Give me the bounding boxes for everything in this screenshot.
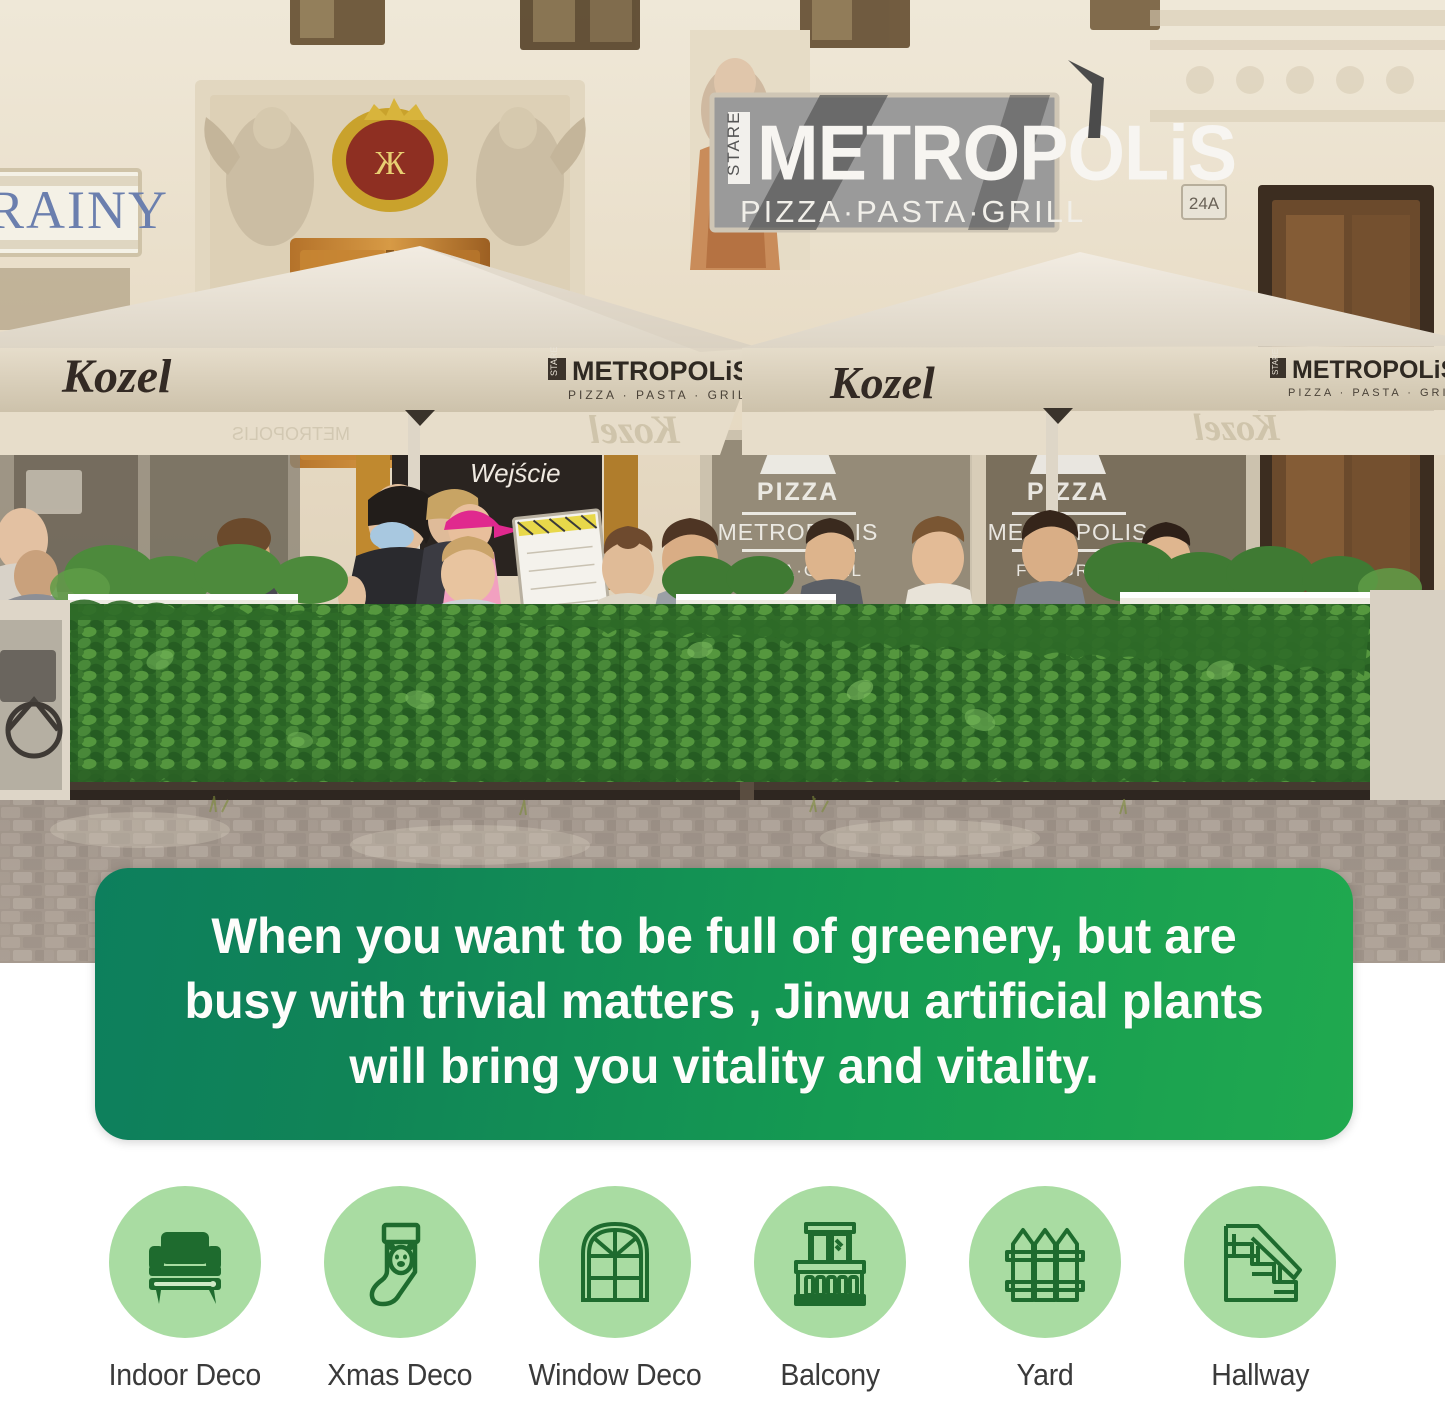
feature-item-balcony[interactable]: Balcony [723,1186,938,1393]
svg-text:METROPOLiS: METROPOLiS [572,356,751,386]
balcony-railing-icon [754,1186,906,1338]
cafe-terrace-photo: RAINY Ж [0,0,1445,963]
sofa-icon [109,1186,261,1338]
arched-window-icon [539,1186,691,1338]
christmas-stocking-icon [324,1186,476,1338]
marketing-banner: When you want to be full of greenery, bu… [95,868,1353,1140]
banner-headline: When you want to be full of greenery, bu… [153,904,1296,1099]
staircase-icon [1184,1186,1336,1338]
svg-text:METROPOLIS: METROPOLIS [718,519,879,545]
picket-fence-icon [969,1186,1121,1338]
svg-text:STARE: STARE [1271,349,1280,375]
feature-item-hallway[interactable]: Hallway [1153,1186,1368,1393]
product-marketing-page: RAINY Ж [0,0,1445,1411]
feature-label: Xmas Deco [328,1357,473,1393]
feature-label: Hallway [1211,1357,1309,1393]
svg-text:Ж: Ж [375,145,406,182]
feature-item-yard[interactable]: Yard [938,1186,1153,1393]
feature-label: Window Deco [529,1357,702,1393]
svg-text:24A: 24A [1189,194,1220,213]
svg-text:PIZZA · PASTA · GRILL: PIZZA · PASTA · GRILL [1288,387,1445,399]
svg-text:METROPOLiS: METROPOLiS [757,110,1236,197]
svg-text:METROPOLiS: METROPOLiS [1292,356,1445,384]
svg-text:Wejście: Wejście [470,458,561,488]
svg-text:STARE: STARE [549,347,559,376]
svg-text:PIZZA: PIZZA [757,478,839,506]
use-case-icon-row: Indoor Deco Xmas [0,1186,1445,1411]
feature-label: Indoor Deco [109,1357,261,1393]
feature-item-indoor-deco[interactable]: Indoor Deco [78,1186,293,1393]
svg-text:Kozel: Kozel [61,350,172,403]
feature-item-xmas-deco[interactable]: Xmas Deco [293,1186,508,1393]
svg-text:METROPOLIS: METROPOLIS [232,424,350,444]
svg-text:RAINY: RAINY [0,180,169,240]
svg-text:PIZZA · PASTA · GRILL: PIZZA · PASTA · GRILL [568,388,757,402]
feature-label: Yard [1016,1357,1073,1393]
svg-text:PIZZA·PASTA·GRILL: PIZZA·PASTA·GRILL [740,194,1086,229]
svg-text:Kozel: Kozel [588,407,681,452]
feature-item-window-deco[interactable]: Window Deco [508,1186,723,1393]
feature-label: Balcony [780,1357,880,1393]
svg-text:PIZZA: PIZZA [1027,478,1109,506]
svg-text:STARE: STARE [724,111,743,176]
svg-text:Kozel: Kozel [1193,407,1281,449]
svg-text:Kozel: Kozel [829,357,935,408]
